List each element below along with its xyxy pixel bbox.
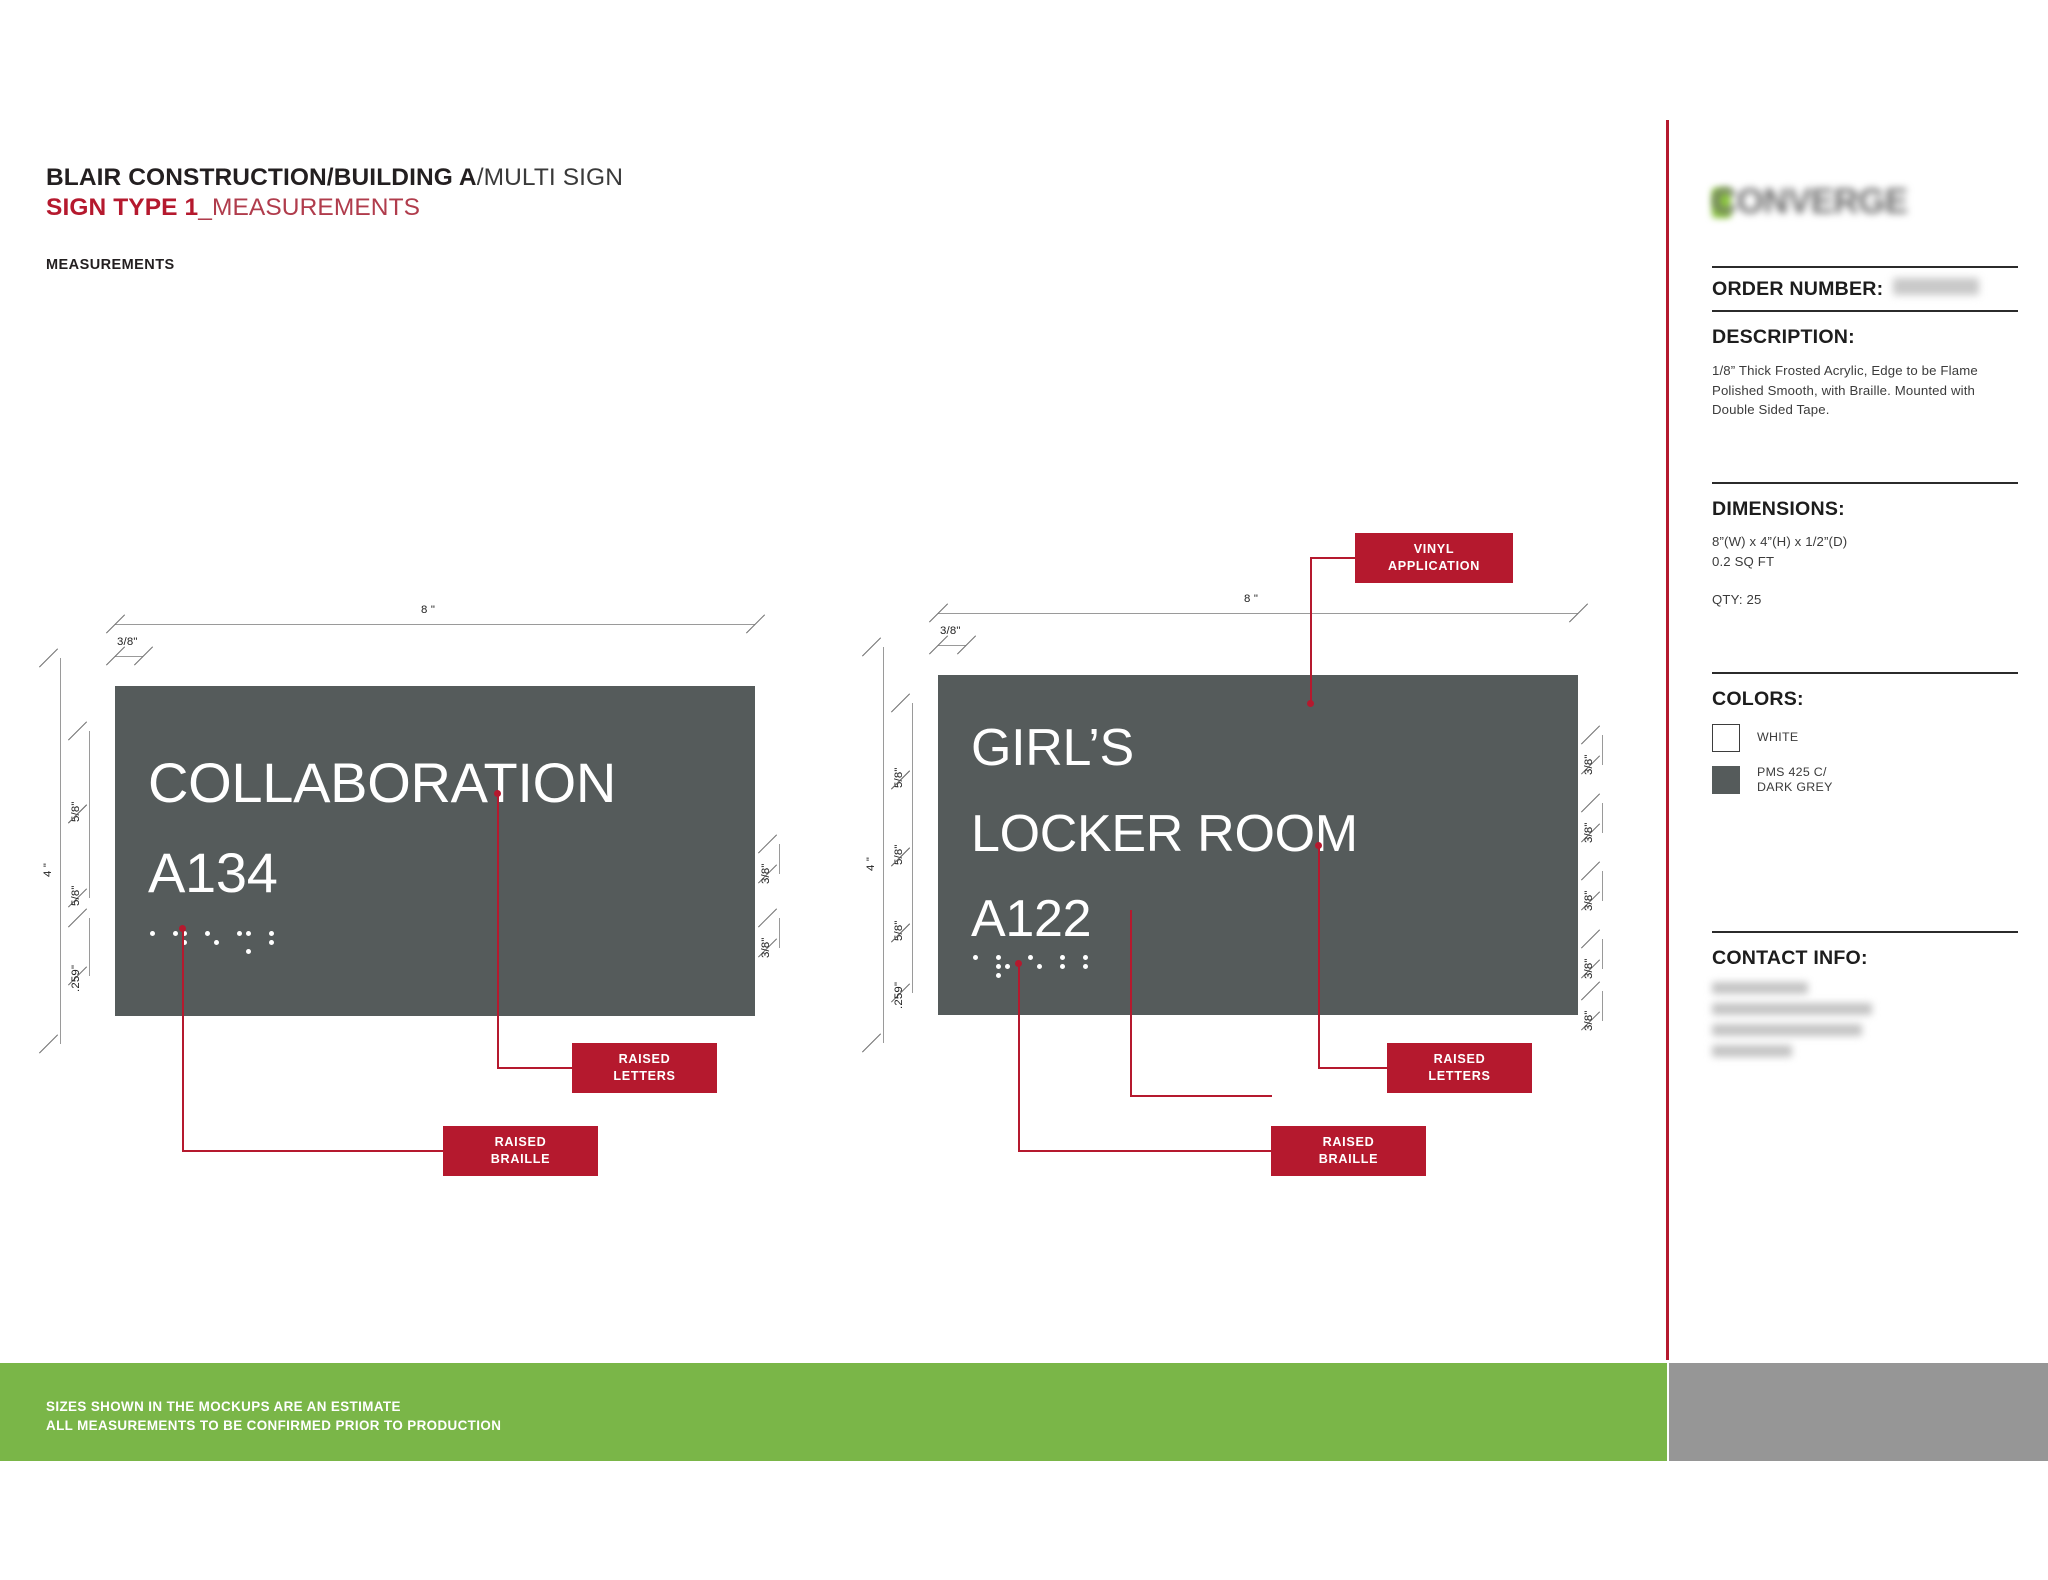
sign-right-dim-tick — [862, 637, 881, 656]
sign-right-braille-dot — [1083, 964, 1088, 969]
sign-left-text-line-1: COLLABORATION — [148, 754, 616, 813]
sign-left-leader-line — [497, 1067, 573, 1069]
sign-right-callout-line-2: APPLICATION — [1388, 558, 1480, 575]
sign-right-text-line-2: LOCKER ROOM — [971, 807, 1358, 862]
dimensions-label: DIMENSIONS: — [1712, 498, 2018, 521]
contact-line — [1712, 1045, 1792, 1057]
footer-disclaimer: SIZES SHOWN IN THE MOCKUPS ARE AN ESTIMA… — [46, 1397, 501, 1435]
sign-right-callout-raised-letters[interactable]: RAISEDLETTERS — [1387, 1043, 1532, 1093]
sign-right-width-dim-line — [938, 613, 1578, 614]
order-number-value-redacted — [1893, 278, 1979, 295]
sign-right-edge-label: 3/8" — [1583, 958, 1595, 979]
color-name-dark-grey: PMS 425 C/ DARK GREY — [1757, 765, 1833, 796]
sign-right-braille-dot — [1083, 955, 1088, 960]
section-label: MEASUREMENTS — [46, 257, 175, 273]
sign-right-callout-raised-braille[interactable]: RAISEDBRAILLE — [1271, 1126, 1426, 1176]
footer-grey-bar — [1669, 1363, 2048, 1461]
dimensions-block: DIMENSIONS: 8”(W) x 4”(H) x 1/2”(D) 0.2 … — [1712, 484, 2018, 610]
sign-left-height-dim-line — [60, 658, 61, 1044]
sign-right-edge-label: 3/8" — [1583, 1010, 1595, 1031]
sign-right-braille-label: .259" — [893, 982, 905, 1009]
sign-right-callout-line-2: BRAILLE — [1319, 1151, 1378, 1168]
sign-type-light: _MEASUREMENTS — [198, 194, 420, 221]
sign-right-text-line-3: A122 — [971, 892, 1091, 947]
sign-right-row-dim-line — [912, 780, 913, 857]
sign-left-braille-label: .259" — [70, 965, 82, 992]
sign-right-margin-label: 3/8" — [940, 625, 961, 637]
sign-right-height-label: 4 " — [865, 857, 877, 871]
sign-right-edge-label: 3/8" — [1583, 890, 1595, 911]
sign-type-title: SIGN TYPE 1_MEASUREMENTS — [46, 193, 623, 223]
description-body: 1/8” Thick Frosted Acrylic, Edge to be F… — [1712, 361, 1998, 420]
sign-left-margin-label: 3/8" — [117, 636, 138, 648]
panel-divider — [1666, 120, 1669, 1360]
sign-left-callout-raised-braille[interactable]: RAISEDBRAILLE — [443, 1126, 598, 1176]
sign-left-leader-line — [182, 1150, 444, 1152]
contact-details-redacted — [1712, 982, 2018, 1057]
project-title-light: /MULTI SIGN — [477, 164, 623, 191]
sign-right-row-dim-line — [912, 703, 913, 780]
quantity-value: QTY: 25 — [1712, 590, 2018, 610]
sign-right-text-line-1: GIRL’S — [971, 721, 1134, 776]
sign-right-leader-dot — [1307, 700, 1314, 707]
sign-right-edge-label: 3/8" — [1583, 822, 1595, 843]
sign-left-braille-dim-line — [89, 918, 90, 976]
sign-left-braille-dot — [237, 931, 242, 936]
dimensions-size: 8”(W) x 4”(H) x 1/2”(D) — [1712, 532, 2018, 552]
sign-left-leader-line — [182, 928, 184, 1151]
spacer-description-dimensions — [1712, 420, 2018, 482]
sign-left-leader-dot — [494, 790, 501, 797]
sign-right-leader-line — [1318, 845, 1320, 1068]
sign-left-dim-tick — [758, 908, 777, 927]
sign-right-leader-line — [1018, 963, 1020, 1151]
contact-label: CONTACT INFO: — [1712, 947, 2018, 970]
sign-left-edge-label: 3/8" — [760, 937, 772, 958]
spacer-dimensions-colors — [1712, 610, 2018, 672]
document-header: BLAIR CONSTRUCTION/BUILDING A/MULTI SIGN… — [46, 163, 623, 223]
contact-line — [1712, 982, 1808, 994]
contact-block: CONTACT INFO: — [1712, 933, 2018, 1057]
sign-right-callout-line-1: VINYL — [1414, 541, 1455, 558]
sign-left-dim-tick — [68, 908, 87, 927]
color-swatch-dark-grey — [1712, 766, 1740, 794]
sign-left-braille-dot — [246, 931, 251, 936]
sign-right-leader-dot — [1315, 842, 1322, 849]
order-number-row: ORDER NUMBER: — [1712, 268, 2018, 310]
color-swatch-row-white: WHITE — [1712, 724, 2018, 752]
sign-right-row-dim-line — [912, 857, 913, 933]
sign-left-callout-raised-letters[interactable]: RAISEDLETTERS — [572, 1043, 717, 1093]
sign-type-bold: SIGN TYPE 1 — [46, 194, 198, 221]
sign-left-edge-label: 3/8" — [760, 863, 772, 884]
sign-right-braille-dot — [1060, 955, 1065, 960]
sign-right-braille-dot — [996, 955, 1001, 960]
sign-left-edge-dim-line — [779, 918, 780, 948]
sign-right-edge-dim-line — [1602, 991, 1603, 1021]
sign-right-leader-line — [1310, 557, 1312, 704]
contact-line — [1712, 1003, 1872, 1015]
sign-left-dim-tick — [68, 721, 87, 740]
sign-left-leader-dot — [179, 925, 186, 932]
sign-right-margin-dim-line — [938, 645, 966, 646]
sign-left-height-label: 4 " — [42, 863, 54, 877]
spacer-colors-contact — [1712, 796, 2018, 931]
description-block: DESCRIPTION: 1/8” Thick Frosted Acrylic,… — [1712, 312, 2018, 420]
sign-left-edge-dim-line — [779, 844, 780, 874]
sign-left-callout-line-2: BRAILLE — [491, 1151, 550, 1168]
sign-right-braille-dot — [996, 973, 1001, 978]
sign-right-dim-tick — [1581, 929, 1600, 948]
footer-line-2: ALL MEASUREMENTS TO BE CONFIRMED PRIOR T… — [46, 1416, 501, 1435]
sign-right-edge-dim-line — [1602, 939, 1603, 969]
sign-left-braille-dot — [246, 949, 251, 954]
sign-right-edge-dim-line — [1602, 871, 1603, 901]
sign-right-dim-tick — [891, 693, 910, 712]
sign-right-braille-dot — [973, 955, 978, 960]
sign-left-braille-dot — [205, 931, 210, 936]
logo-wordmark: CONVERGE — [1712, 182, 1908, 222]
project-title: BLAIR CONSTRUCTION/BUILDING A/MULTI SIGN — [46, 163, 623, 193]
colors-block: COLORS: WHITE PMS 425 C/ DARK GREY — [1712, 674, 2018, 796]
sign-right-dim-tick — [1581, 861, 1600, 880]
sign-left-dim-tick — [39, 1034, 58, 1053]
sign-left-braille-dot — [269, 940, 274, 945]
sign-left-dim-tick — [758, 834, 777, 853]
sign-left-row-dim-line — [89, 814, 90, 898]
sign-right-braille-dot — [1005, 964, 1010, 969]
dimensions-area: 0.2 SQ FT — [1712, 552, 2018, 572]
sign-left-row-dim-line — [89, 731, 90, 814]
sign-right-dim-tick — [1581, 793, 1600, 812]
color-swatch-white — [1712, 724, 1740, 752]
sign-right-edge-label: 3/8" — [1583, 754, 1595, 775]
sign-left-braille-dot — [269, 931, 274, 936]
sign-left-braille-dot — [214, 940, 219, 945]
sign-left-width-label: 8 " — [421, 604, 435, 616]
sign-left-text-line-2: A134 — [148, 844, 278, 903]
sign-right-edge-dim-line — [1602, 803, 1603, 833]
sign-right-braille-dot — [996, 964, 1001, 969]
sign-left-margin-dim-line — [115, 656, 143, 657]
sign-right-dim-tick — [1581, 725, 1600, 744]
color-name-white: WHITE — [1757, 730, 1798, 746]
sign-right-dim-tick — [1581, 981, 1600, 1000]
sign-left-width-dim-line — [115, 624, 755, 625]
sign-right-callout-line-1: RAISED — [1323, 1134, 1375, 1151]
sign-left-dim-tick — [39, 648, 58, 667]
sign-left-callout-line-1: RAISED — [619, 1051, 671, 1068]
sign-left-callout-line-2: LETTERS — [613, 1068, 675, 1085]
contact-line — [1712, 1024, 1862, 1036]
info-panel: CONVERGE ORDER NUMBER: DESCRIPTION: 1/8”… — [1712, 176, 2018, 1066]
sign-left-braille-dot — [173, 931, 178, 936]
sign-right-braille-dot — [1060, 964, 1065, 969]
footer-line-1: SIZES SHOWN IN THE MOCKUPS ARE AN ESTIMA… — [46, 1397, 501, 1416]
sign-right-height-dim-line — [883, 647, 884, 1043]
sign-right-dim-tick — [862, 1033, 881, 1052]
sign-right-leader-line — [1310, 557, 1356, 559]
sign-right-callout-line-2: LETTERS — [1428, 1068, 1490, 1085]
sign-right-leader-line — [1018, 1150, 1272, 1152]
sign-right-edge-dim-line — [1602, 735, 1603, 765]
sign-right-callout-vinyl-application[interactable]: VINYLAPPLICATION — [1355, 533, 1513, 583]
project-title-main: BLAIR CONSTRUCTION/BUILDING A — [46, 164, 477, 191]
sign-left-braille-dot — [150, 931, 155, 936]
sign-right-width-label: 8 " — [1244, 593, 1258, 605]
sign-right-leader-dot — [1015, 960, 1022, 967]
sign-left-row-label: 5/8" — [70, 885, 82, 906]
colors-label: COLORS: — [1712, 688, 2018, 711]
company-logo: CONVERGE — [1712, 176, 2018, 232]
description-label: DESCRIPTION: — [1712, 326, 2018, 349]
sign-right-braille-dot — [1037, 964, 1042, 969]
sign-left-leader-line — [497, 793, 499, 1068]
color-swatch-row-dark-grey: PMS 425 C/ DARK GREY — [1712, 765, 2018, 796]
sign-right-braille-dot — [1028, 955, 1033, 960]
sign-right-callout-line-1: RAISED — [1434, 1051, 1486, 1068]
sign-left-callout-line-1: RAISED — [495, 1134, 547, 1151]
sign-right-braille-dim-line — [912, 933, 913, 993]
signage-spec-page: BLAIR CONSTRUCTION/BUILDING A/MULTI SIGN… — [0, 0, 2048, 1580]
order-number-label: ORDER NUMBER: — [1712, 278, 1883, 301]
sign-right-leader-line — [1130, 910, 1132, 1096]
sign-right-leader-line — [1318, 1067, 1388, 1069]
sign-right-leader-line — [1130, 1095, 1272, 1097]
